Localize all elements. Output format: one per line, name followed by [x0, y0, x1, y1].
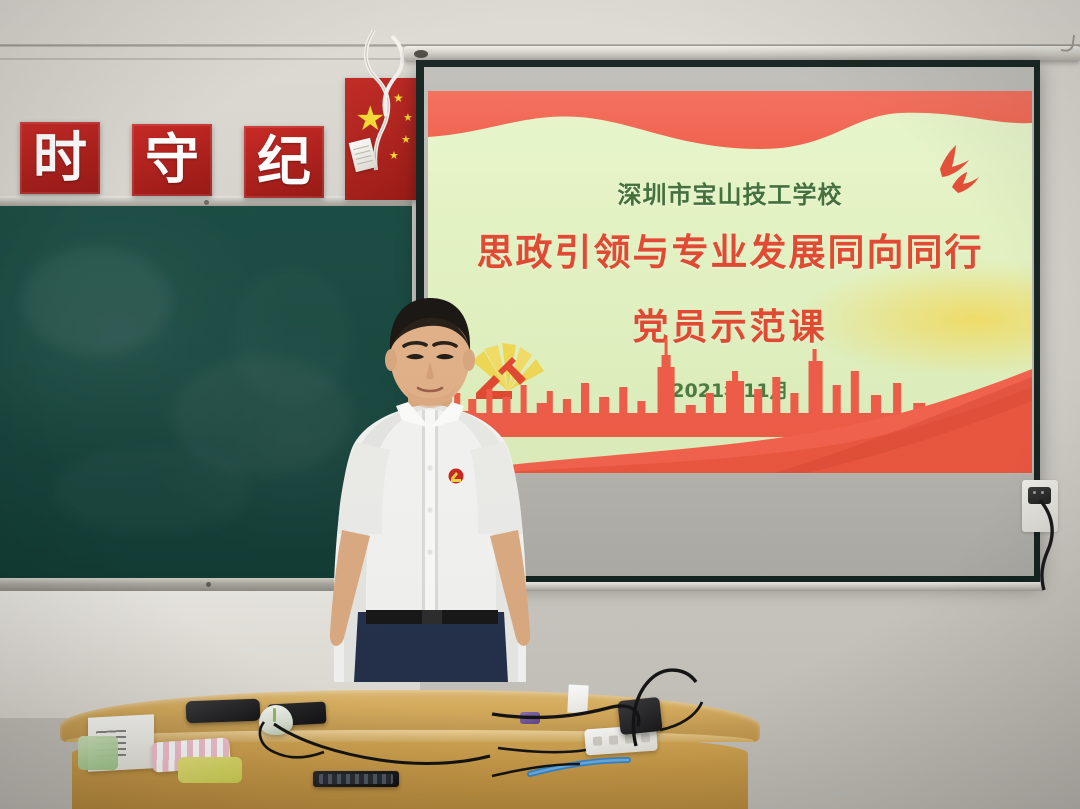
wall-plaque-shi: 时 — [20, 122, 100, 194]
paper-slip — [567, 684, 588, 713]
party-badge-icon — [449, 469, 464, 484]
plaque-char: 守 — [145, 133, 199, 187]
purple-connector[interactable] — [520, 712, 540, 724]
smartphone[interactable] — [186, 699, 261, 724]
wall-plaque-shou: 守 — [132, 124, 212, 196]
wall-power-socket[interactable] — [1028, 487, 1051, 504]
power-adapter[interactable] — [617, 697, 662, 735]
presenter — [296, 282, 564, 682]
classroom-photo: 时 守 纪 ★ ★ ★ ★ ★ — [0, 0, 1080, 809]
slide-organization: 深圳市宝山技工学校 — [428, 175, 1032, 210]
plaque-char: 时 — [33, 131, 87, 185]
computer-mouse[interactable] — [259, 705, 293, 735]
wall-plaque-ji: 纪 — [244, 126, 324, 198]
slide-title: 思政引领与专业发展同向同行 — [428, 222, 1032, 276]
yellow-bag[interactable] — [178, 757, 242, 783]
plaque-char: 纪 — [257, 135, 311, 189]
green-bag[interactable] — [78, 736, 118, 770]
dark-device[interactable] — [313, 771, 399, 787]
